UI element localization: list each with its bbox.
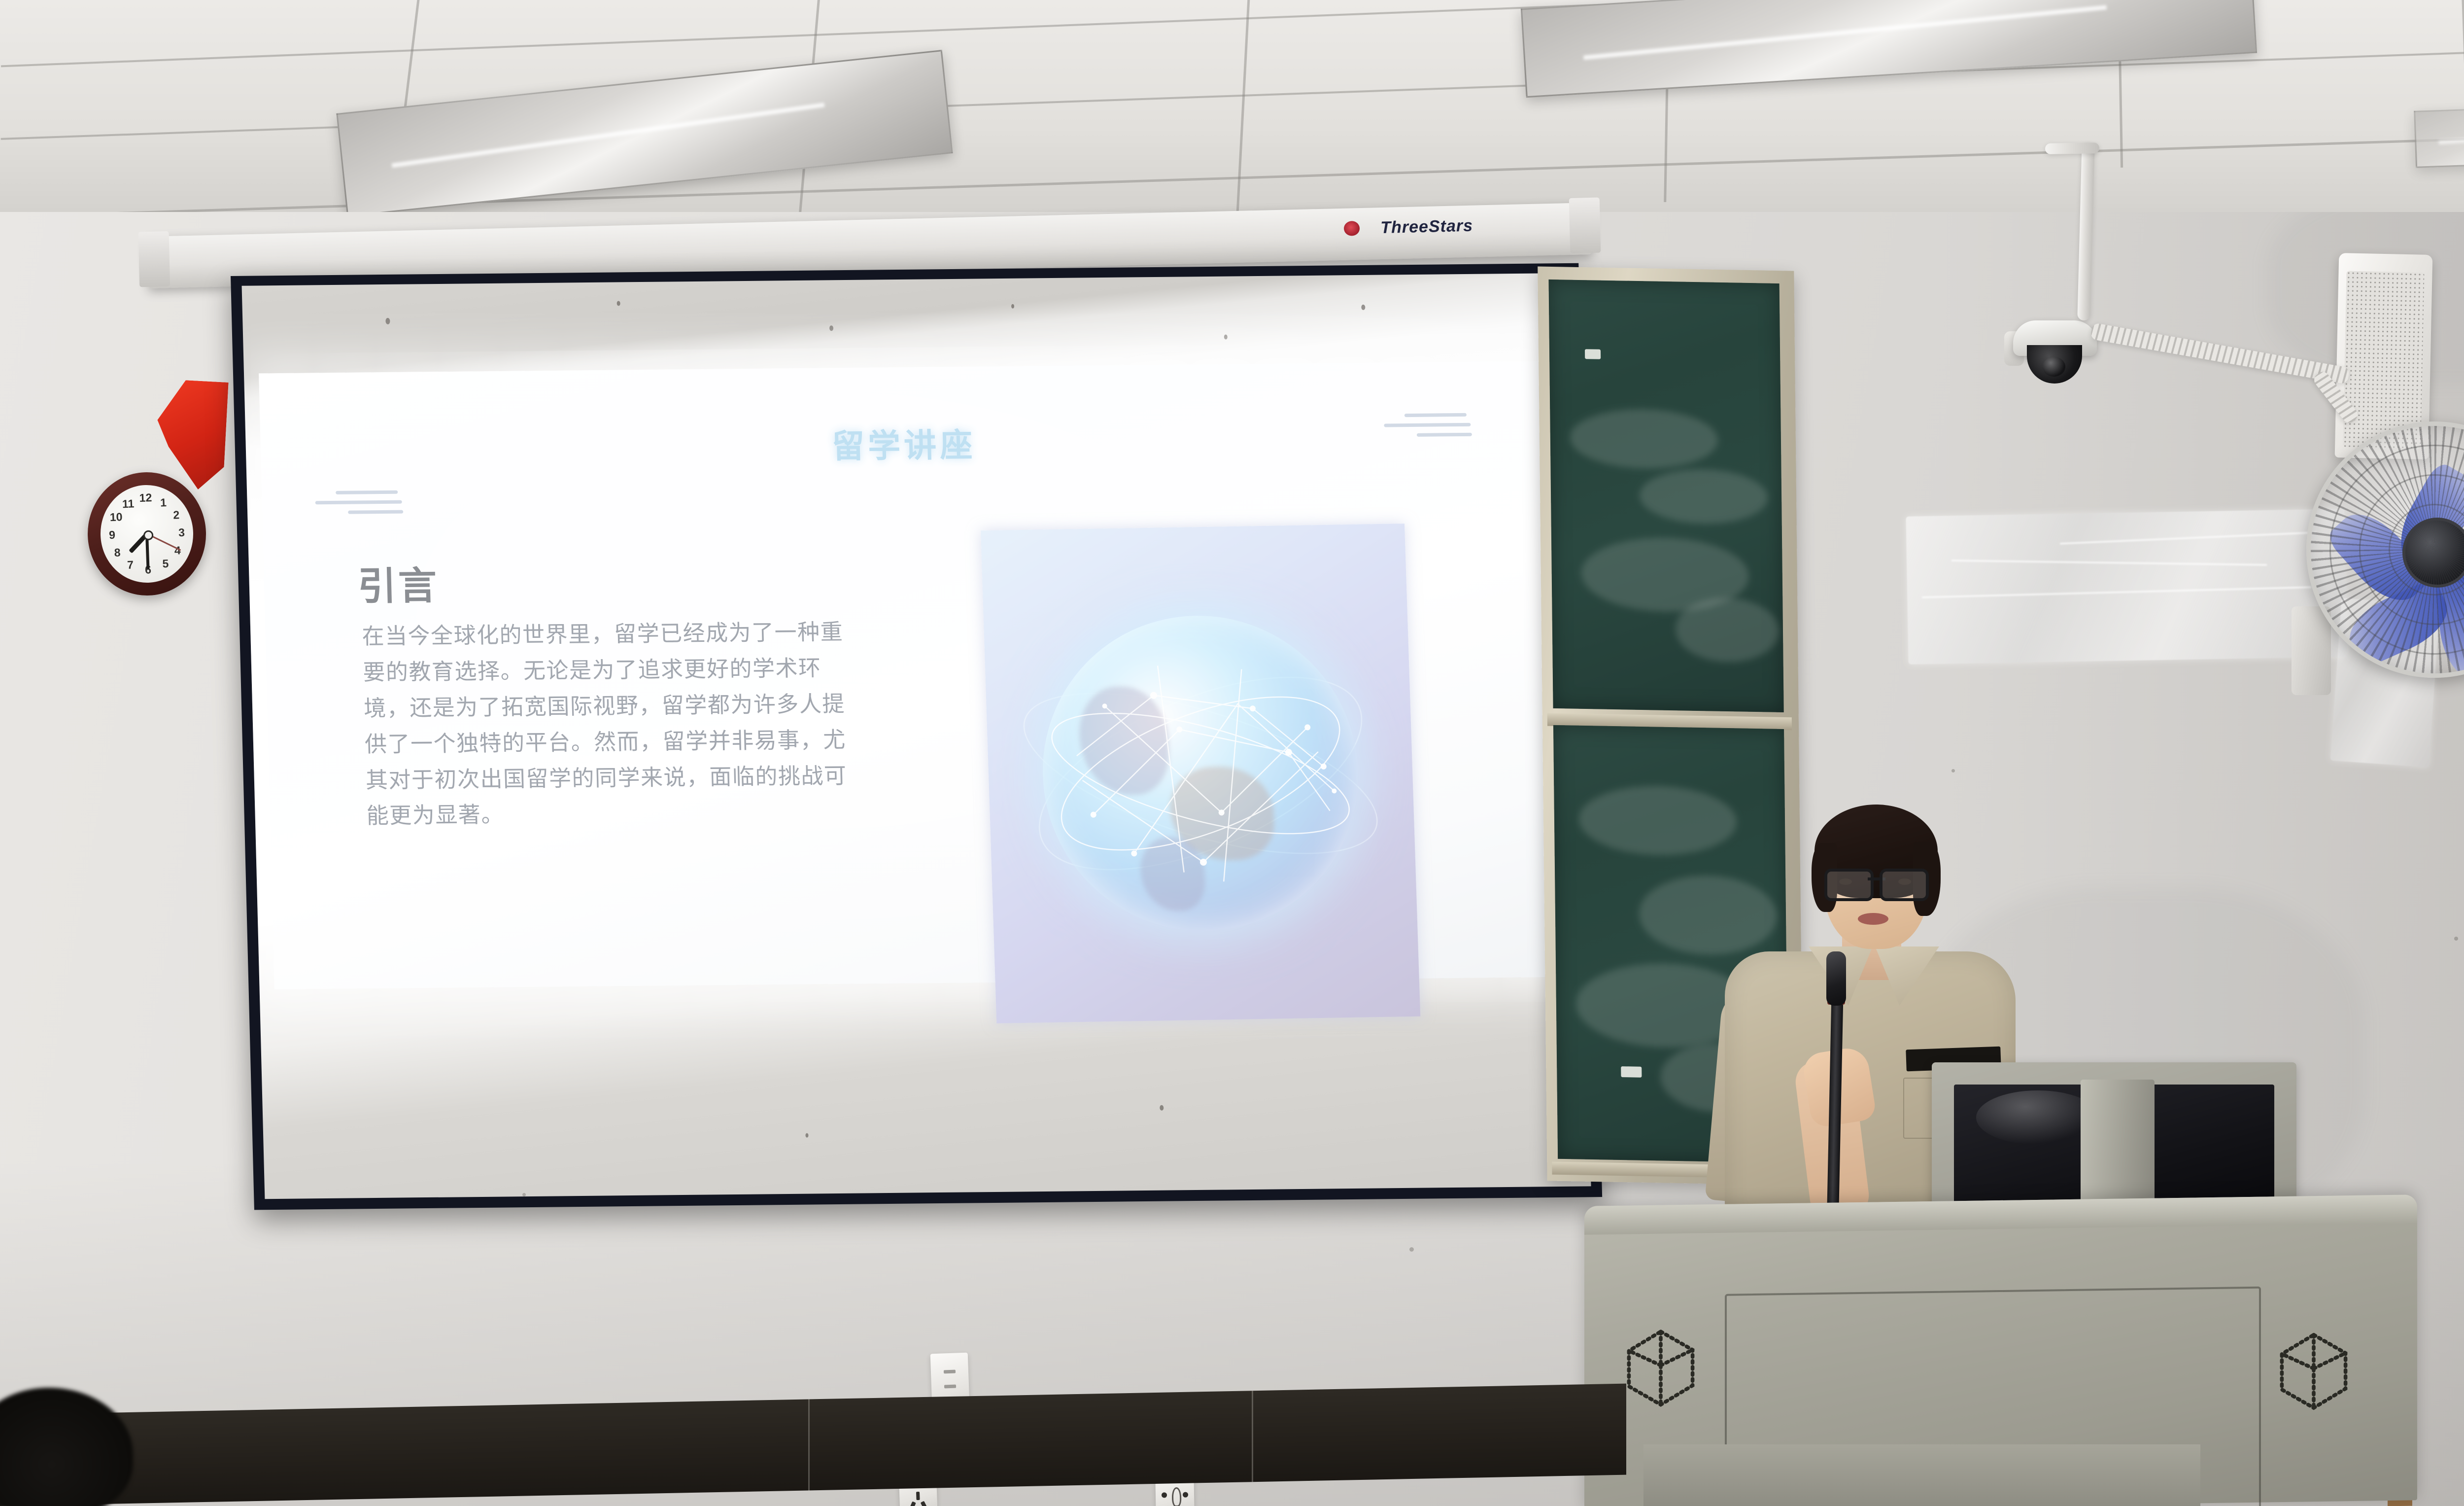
eyeglasses: [1824, 869, 1929, 896]
clock-face: 12 1 2 3 4 5 6 7 8 9 10 11: [99, 484, 195, 584]
lectern-logo-icon-right: [2267, 1321, 2361, 1416]
classroom-photo-scene: 12 1 2 3 4 5 6 7 8 9 10 11 ThreeStars: [0, 0, 2464, 1506]
fan-cage: [2306, 421, 2464, 678]
lectern-logo-icon-left: [1614, 1318, 1708, 1413]
ceiling-light-fixture: [1521, 0, 2257, 98]
slide-body-text: 在当今全球化的世界里，留学已经成为了一种重要的教育选择。无论是为了追求更好的学术…: [362, 614, 850, 835]
microphone-head[interactable]: [1826, 951, 1846, 1006]
ceiling-light-fixture: [336, 50, 953, 212]
camera-lens-icon: [2043, 357, 2065, 377]
oscillating-wall-fan[interactable]: [2306, 421, 2464, 678]
lectern-base: [1643, 1444, 2200, 1506]
plastic-sheeting: [1906, 509, 2347, 664]
chalkboard-panel-upper: [1549, 280, 1784, 712]
clock-center-pin: [143, 530, 154, 541]
presentation-slide: 留学讲座 引言 在当今全球化的世界里，留学已经成为了一种重要的教育选择。无论是为…: [259, 361, 1561, 989]
projection-screen-surface: 留学讲座 引言 在当今全球化的世界里，留学已经成为了一种重要的教育选择。无论是为…: [242, 273, 1591, 1199]
ceiling-light-fixture: [2414, 101, 2464, 168]
decorative-lines-left: [315, 489, 405, 520]
screen-brand-label: ThreeStars: [1380, 216, 1473, 238]
globe-network-lines: [1027, 603, 1373, 944]
slide-title: 留学讲座: [260, 413, 1548, 473]
dome-security-camera: [2013, 320, 2097, 380]
cable-conduit: [2045, 142, 2099, 154]
projection-screen-frame: 留学讲座 引言 在当今全球化的世界里，留学已经成为了一种重要的教育选择。无论是为…: [231, 263, 1602, 1210]
globe-network-image: [981, 524, 1420, 1023]
slide-section-heading: 引言: [357, 555, 439, 611]
suspended-ceiling: [0, 0, 2464, 212]
threestars-logo-icon: [1344, 221, 1360, 236]
